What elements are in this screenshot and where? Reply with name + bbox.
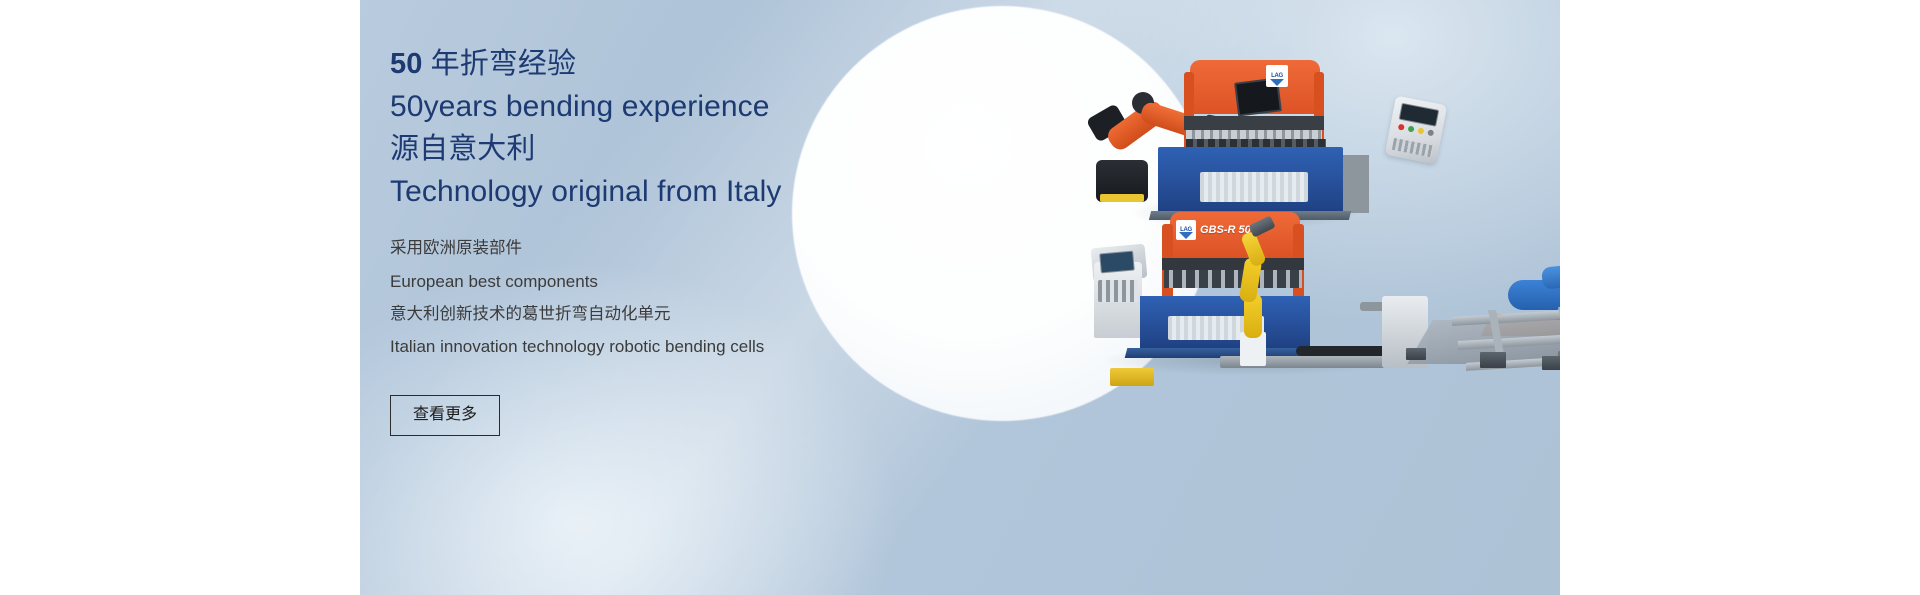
headline-lead-number: 50 — [390, 48, 422, 80]
pendant-button-green — [1408, 126, 1415, 133]
lag-logo-badge: LAG — [1176, 220, 1196, 240]
lag-logo-badge: LAG — [1266, 65, 1288, 87]
view-more-button[interactable]: 查看更多 — [390, 395, 500, 436]
headline-line-2: 50years bending experience — [390, 92, 950, 122]
console-keypad — [1098, 280, 1138, 302]
headline-line-1: 50 年折弯经验 — [390, 50, 950, 79]
metal-block — [1406, 348, 1426, 360]
headline-line-3: 源自意大利 — [390, 135, 950, 164]
subtext-line-4: Italian innovation technology robotic be… — [390, 338, 950, 355]
hero-banner: LAG — [0, 0, 1920, 595]
robot-lower-arm — [1541, 260, 1560, 289]
banner-text-column: 50 年折弯经验 50years bending experience 源自意大… — [390, 50, 950, 436]
headline-line-4: Technology original from Italy — [390, 177, 950, 207]
pendant-button-yellow — [1417, 127, 1424, 134]
banner-headline: 50 年折弯经验 50years bending experience 源自意大… — [390, 50, 950, 207]
press-beam — [1162, 258, 1304, 270]
headline-line-1-rest: 年折弯经验 — [422, 48, 576, 80]
press-tooling — [1186, 130, 1322, 139]
subtext-line-3: 意大利创新技术的葛世折弯自动化单元 — [390, 306, 950, 323]
subtext-line-2: European best components — [390, 273, 950, 290]
rail — [1452, 295, 1560, 326]
pendant-screen — [1399, 103, 1440, 127]
lag-logo-chevron — [1270, 79, 1284, 86]
machine-press-brake-robot-cell: LAG — [1138, 52, 1478, 232]
robot-base-trim — [1100, 194, 1144, 202]
banner-panel: LAG — [360, 0, 1560, 595]
pendant-estop-button — [1398, 124, 1405, 131]
metal-block — [1480, 352, 1506, 368]
subtext-line-1: 采用欧洲原装部件 — [390, 240, 950, 257]
pendant-keypad — [1392, 138, 1434, 157]
rail-tie — [1558, 307, 1560, 351]
console-screen — [1099, 251, 1135, 274]
press-vent-grille — [1200, 172, 1308, 202]
cable-chain — [1296, 346, 1388, 356]
lag-logo-chevron — [1179, 232, 1193, 239]
press-side-cabinet — [1343, 155, 1369, 213]
press-beam — [1184, 116, 1324, 130]
pendant-button-grey — [1427, 129, 1434, 136]
yellow-pallet — [1110, 368, 1154, 386]
press-tooling — [1164, 270, 1302, 288]
control-pendant — [1385, 96, 1447, 165]
banner-subtext: 采用欧洲原装部件 European best components 意大利创新技… — [390, 240, 950, 355]
metal-block — [1542, 356, 1560, 370]
